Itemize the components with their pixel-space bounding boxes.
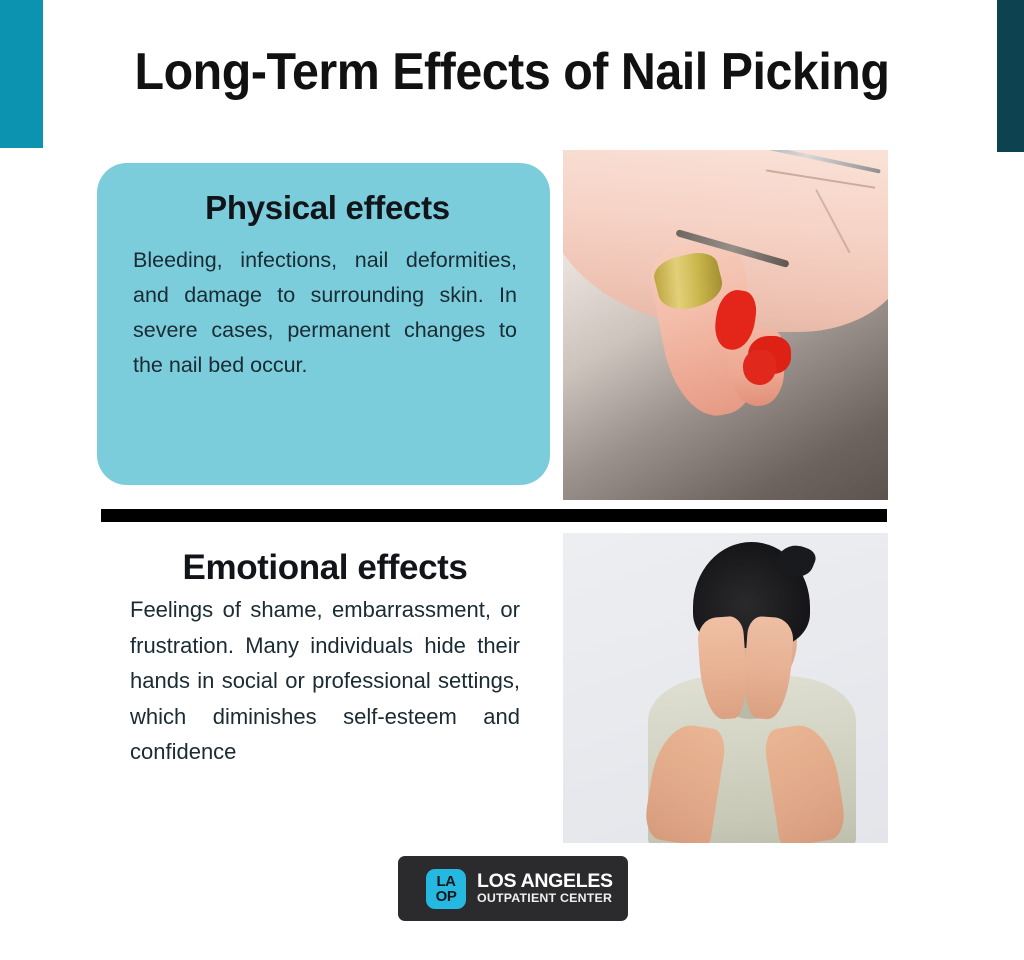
- section-divider: [101, 509, 887, 522]
- brand-logo[interactable]: LA OP LOS ANGELES OUTPATIENT CENTER: [398, 856, 628, 921]
- infographic-page: Long-Term Effects of Nail Picking Physic…: [0, 0, 1024, 960]
- block-emotional-effects: Emotional effects Feelings of shame, emb…: [130, 548, 520, 770]
- emotional-effects-body: Feelings of shame, embarrassment, or fru…: [130, 592, 520, 770]
- physical-effects-heading: Physical effects: [133, 189, 522, 227]
- page-title: Long-Term Effects of Nail Picking: [92, 42, 933, 102]
- accent-bar-right: [997, 0, 1024, 152]
- image-injured-finger: [563, 150, 888, 500]
- brand-name-secondary: OUTPATIENT CENTER: [477, 891, 613, 907]
- laop-monogram-top: LA: [437, 874, 456, 889]
- card-physical-effects: Physical effects Bleeding, infections, n…: [97, 163, 550, 485]
- emotional-effects-heading: Emotional effects: [130, 548, 520, 588]
- laop-monogram-icon: LA OP: [426, 869, 466, 909]
- brand-logo-text: LOS ANGELES OUTPATIENT CENTER: [477, 871, 613, 907]
- accent-bar-left: [0, 0, 43, 148]
- physical-effects-body: Bleeding, infections, nail deformities, …: [133, 243, 522, 383]
- blood-spot-3: [743, 350, 776, 385]
- image-man-covering-face: [563, 533, 888, 843]
- brand-name-primary: LOS ANGELES: [477, 871, 613, 891]
- laop-monogram-bottom: OP: [436, 889, 457, 904]
